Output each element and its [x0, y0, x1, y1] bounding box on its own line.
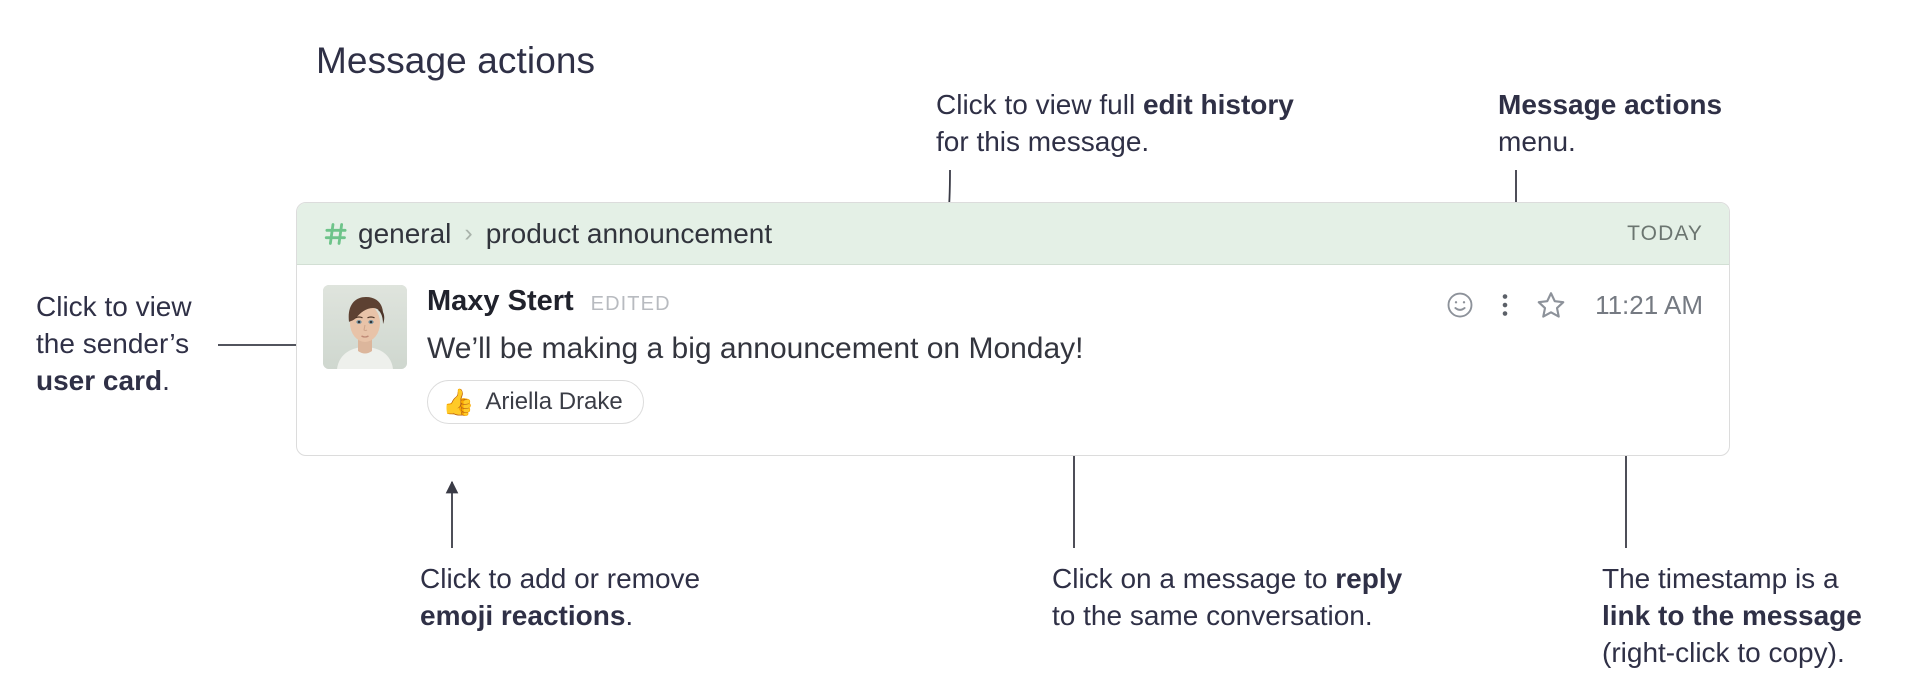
annotation-user-card-line2: the sender’s — [36, 325, 192, 362]
message-body-text[interactable]: We’ll be making a big announcement on Mo… — [427, 331, 1703, 367]
reaction-pill[interactable]: 👍 Ariella Drake — [427, 380, 644, 424]
annotation-timestamp-line1: The timestamp is a — [1602, 560, 1862, 597]
vertical-dots-icon[interactable] — [1495, 290, 1515, 320]
annotation-reply-emphasis: reply — [1335, 563, 1402, 594]
edited-badge[interactable]: EDITED — [591, 293, 671, 316]
annotation-timestamp-line3: (right-click to copy). — [1602, 634, 1862, 671]
channel-header-bar: general › product announcement TODAY — [297, 203, 1729, 265]
avatar[interactable] — [323, 285, 407, 369]
page-title: Message actions — [316, 40, 595, 82]
annotation-user-card-emphasis: user card — [36, 365, 162, 396]
annotation-reply-line2: to the same conversation. — [1052, 597, 1402, 634]
breadcrumb-channel[interactable]: general — [358, 218, 451, 250]
annotation-edit-history-line2: for this message. — [936, 123, 1294, 160]
annotation-actions-menu-line2: menu. — [1498, 123, 1722, 160]
annotation-edit-history-line1: Click to view full — [936, 89, 1143, 120]
annotation-user-card-line3-tail: . — [162, 365, 170, 396]
emoji-reaction-icon[interactable] — [1445, 290, 1475, 320]
thumbs-up-emoji: 👍 — [442, 389, 474, 415]
message-actions-group: 11:21 AM — [1445, 289, 1703, 321]
annotation-actions-menu: Message actions menu. — [1498, 86, 1722, 160]
reaction-label: Ariella Drake — [485, 388, 622, 416]
annotation-timestamp-link: The timestamp is a link to the message (… — [1602, 560, 1862, 671]
annotation-timestamp-emphasis: link to the message — [1602, 600, 1862, 631]
annotation-reply: Click on a message to reply to the same … — [1052, 560, 1402, 634]
annotation-emoji-reactions: Click to add or remove emoji reactions. — [420, 560, 700, 634]
reaction-row: 👍 Ariella Drake — [427, 380, 1703, 424]
breadcrumb-topic[interactable]: product announcement — [486, 218, 772, 250]
sender-name[interactable]: Maxy Stert — [427, 285, 574, 318]
message-row[interactable]: Maxy Stert EDITED We’ll be making a big … — [297, 265, 1729, 424]
annotation-actions-menu-emphasis: Message actions — [1498, 89, 1722, 120]
annotation-user-card: Click to view the sender’s user card. — [36, 288, 192, 399]
hash-icon — [323, 221, 349, 247]
message-timestamp[interactable]: 11:21 AM — [1595, 290, 1703, 321]
annotation-edit-history-emphasis: edit history — [1143, 89, 1294, 120]
annotation-reply-line1: Click on a message to — [1052, 563, 1335, 594]
annotation-emoji-line2-tail: . — [625, 600, 633, 631]
star-outline-icon[interactable] — [1535, 289, 1567, 321]
annotation-user-card-line1: Click to view — [36, 288, 192, 325]
day-label: TODAY — [1627, 222, 1703, 246]
annotation-emoji-emphasis: emoji reactions — [420, 600, 625, 631]
annotation-emoji-line1: Click to add or remove — [420, 560, 700, 597]
message-card: general › product announcement TODAY — [296, 202, 1730, 456]
breadcrumb-separator-icon: › — [464, 221, 472, 246]
annotation-edit-history: Click to view full edit history for this… — [936, 86, 1294, 160]
